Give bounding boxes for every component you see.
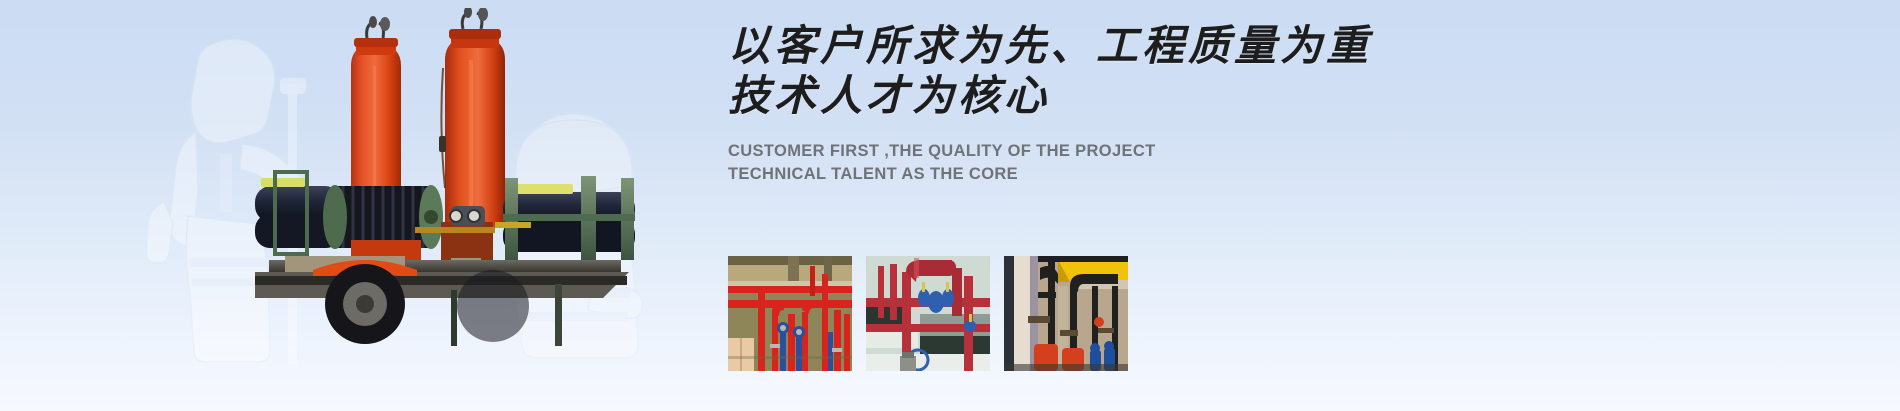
headline-line-1: 以客户所求为先、工程质量为重 bbox=[728, 24, 1372, 70]
thumbnail-fire-pipe-riser-room[interactable] bbox=[728, 256, 852, 371]
subtitle-line-2: TECHNICAL TALENT AS THE CORE bbox=[728, 163, 1428, 186]
page-headline: 以客户所求为先、工程质量为重 技术人才为核心 bbox=[728, 22, 1428, 123]
thumbnail-fire-pump-room[interactable] bbox=[1004, 256, 1128, 371]
headline-line-2: 技术人才为核心 bbox=[728, 72, 1428, 122]
trailer-chassis bbox=[255, 256, 629, 346]
thumbnail-strip bbox=[728, 256, 1128, 371]
hose-reel bbox=[323, 185, 443, 260]
mobile-fire-fighting-trailer-image bbox=[255, 8, 675, 348]
pressure-tank-right bbox=[439, 8, 505, 228]
thumbnail-fire-pipe-stairwell[interactable] bbox=[866, 256, 990, 371]
subtitle-line-1: CUSTOMER FIRST ,THE QUALITY OF THE PROJE… bbox=[728, 140, 1428, 163]
hero-banner: 以客户所求为先、工程质量为重 技术人才为核心 CUSTOMER FIRST ,T… bbox=[0, 0, 1900, 411]
page-subtitle: CUSTOMER FIRST ,THE QUALITY OF THE PROJE… bbox=[728, 140, 1428, 187]
hose-bundle-right bbox=[503, 176, 635, 260]
hero-copy: 以客户所求为先、工程质量为重 技术人才为核心 CUSTOMER FIRST ,T… bbox=[728, 22, 1428, 187]
